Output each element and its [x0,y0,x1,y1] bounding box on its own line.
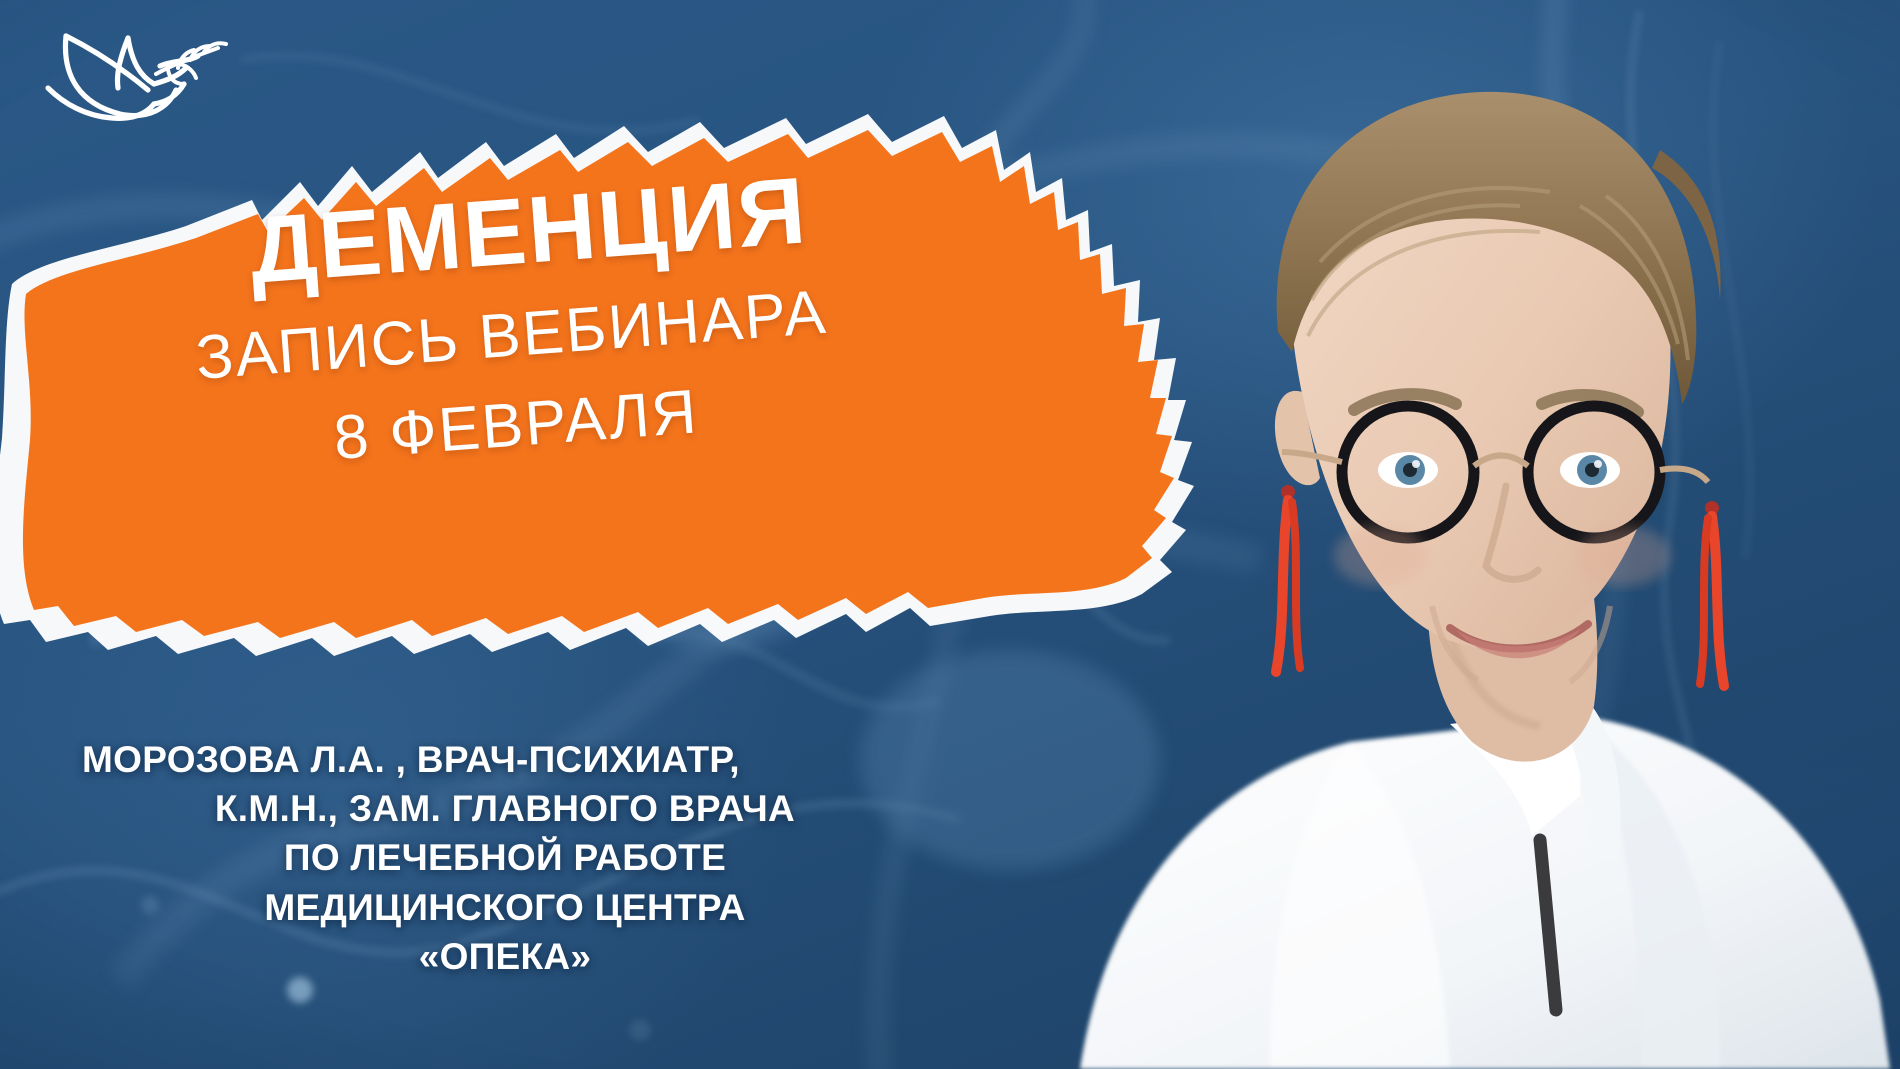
speaker-portrait [1020,0,1900,1069]
red-tassel-earring-left [1276,485,1300,672]
credential-line-1: МОРОЗОВА Л.А. , ВРАЧ-ПСИХИАТР, [0,735,1010,784]
speaker-credentials: МОРОЗОВА Л.А. , ВРАЧ-ПСИХИАТР, К.М.Н., З… [0,735,1010,981]
credential-line-4: МЕДИЦИНСКОГО ЦЕНТРА [0,883,1010,932]
webinar-poster: ДЕМЕНЦИЯ ЗАПИСЬ ВЕБИНАРА 8 ФЕВРАЛЯ [0,0,1900,1069]
credential-line-3: ПО ЛЕЧЕБНОЙ РАБОТЕ [0,833,1010,882]
credential-line-5: «ОПЕКА» [0,932,1010,981]
red-tassel-earring-right [1700,501,1724,686]
credential-line-2: К.М.Н., ЗАМ. ГЛАВНОГО ВРАЧА [0,784,1010,833]
